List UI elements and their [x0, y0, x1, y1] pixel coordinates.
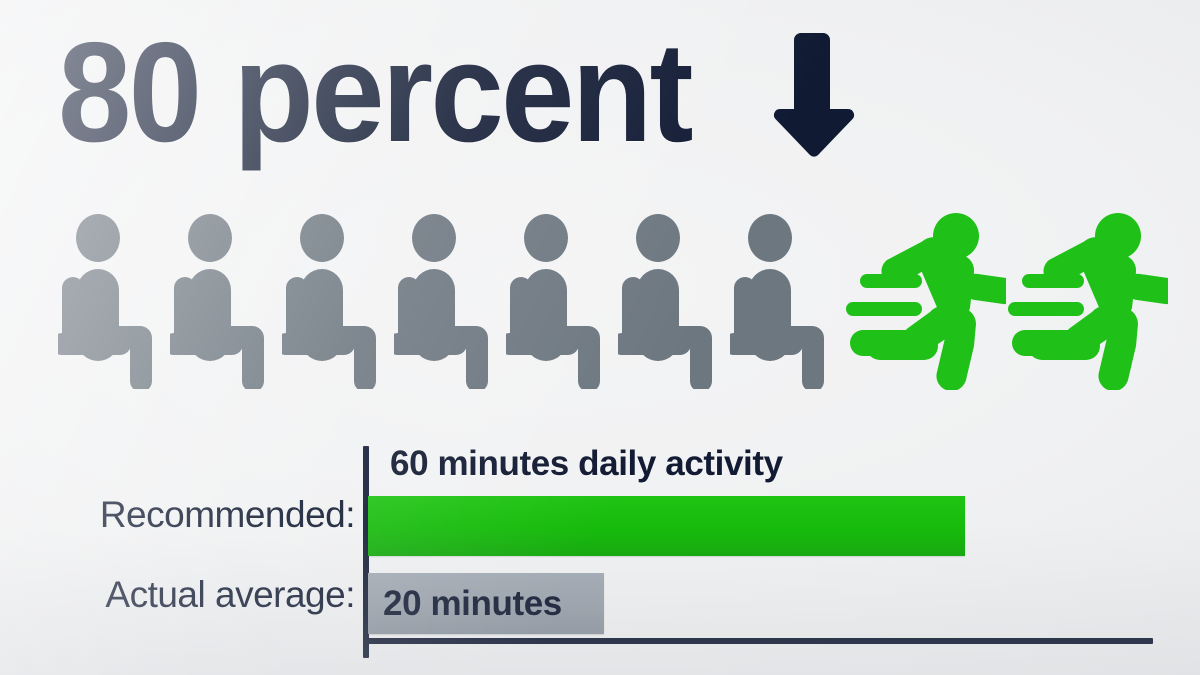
infographic-canvas: 80 percent — [0, 0, 1200, 675]
bar-label-actual-average: Actual average: — [105, 574, 355, 616]
chart-x-axis-line — [363, 638, 1153, 644]
sitting-person-icon — [58, 214, 158, 394]
bar-chart: 60 minutes daily activity Recommended: A… — [0, 432, 1200, 662]
headline: 80 percent — [58, 22, 864, 164]
sitting-person-icon — [730, 214, 830, 394]
page-title: 80 percent — [58, 22, 691, 164]
sitting-person-icon — [618, 214, 718, 394]
bar-label-recommended: Recommended: — [100, 494, 355, 536]
sitting-person-icon — [394, 214, 494, 394]
running-person-icon — [1008, 210, 1168, 395]
bar-actual-average-value: 20 minutes — [383, 584, 562, 624]
running-person-icon — [846, 210, 1006, 395]
sitting-person-icon — [170, 214, 270, 394]
arrow-down-icon — [760, 29, 864, 157]
pictogram-row — [0, 206, 1200, 396]
bar-recommended — [368, 496, 965, 556]
sitting-person-icon — [506, 214, 606, 394]
chart-title: 60 minutes daily activity — [390, 444, 783, 484]
sitting-person-icon — [282, 214, 382, 394]
